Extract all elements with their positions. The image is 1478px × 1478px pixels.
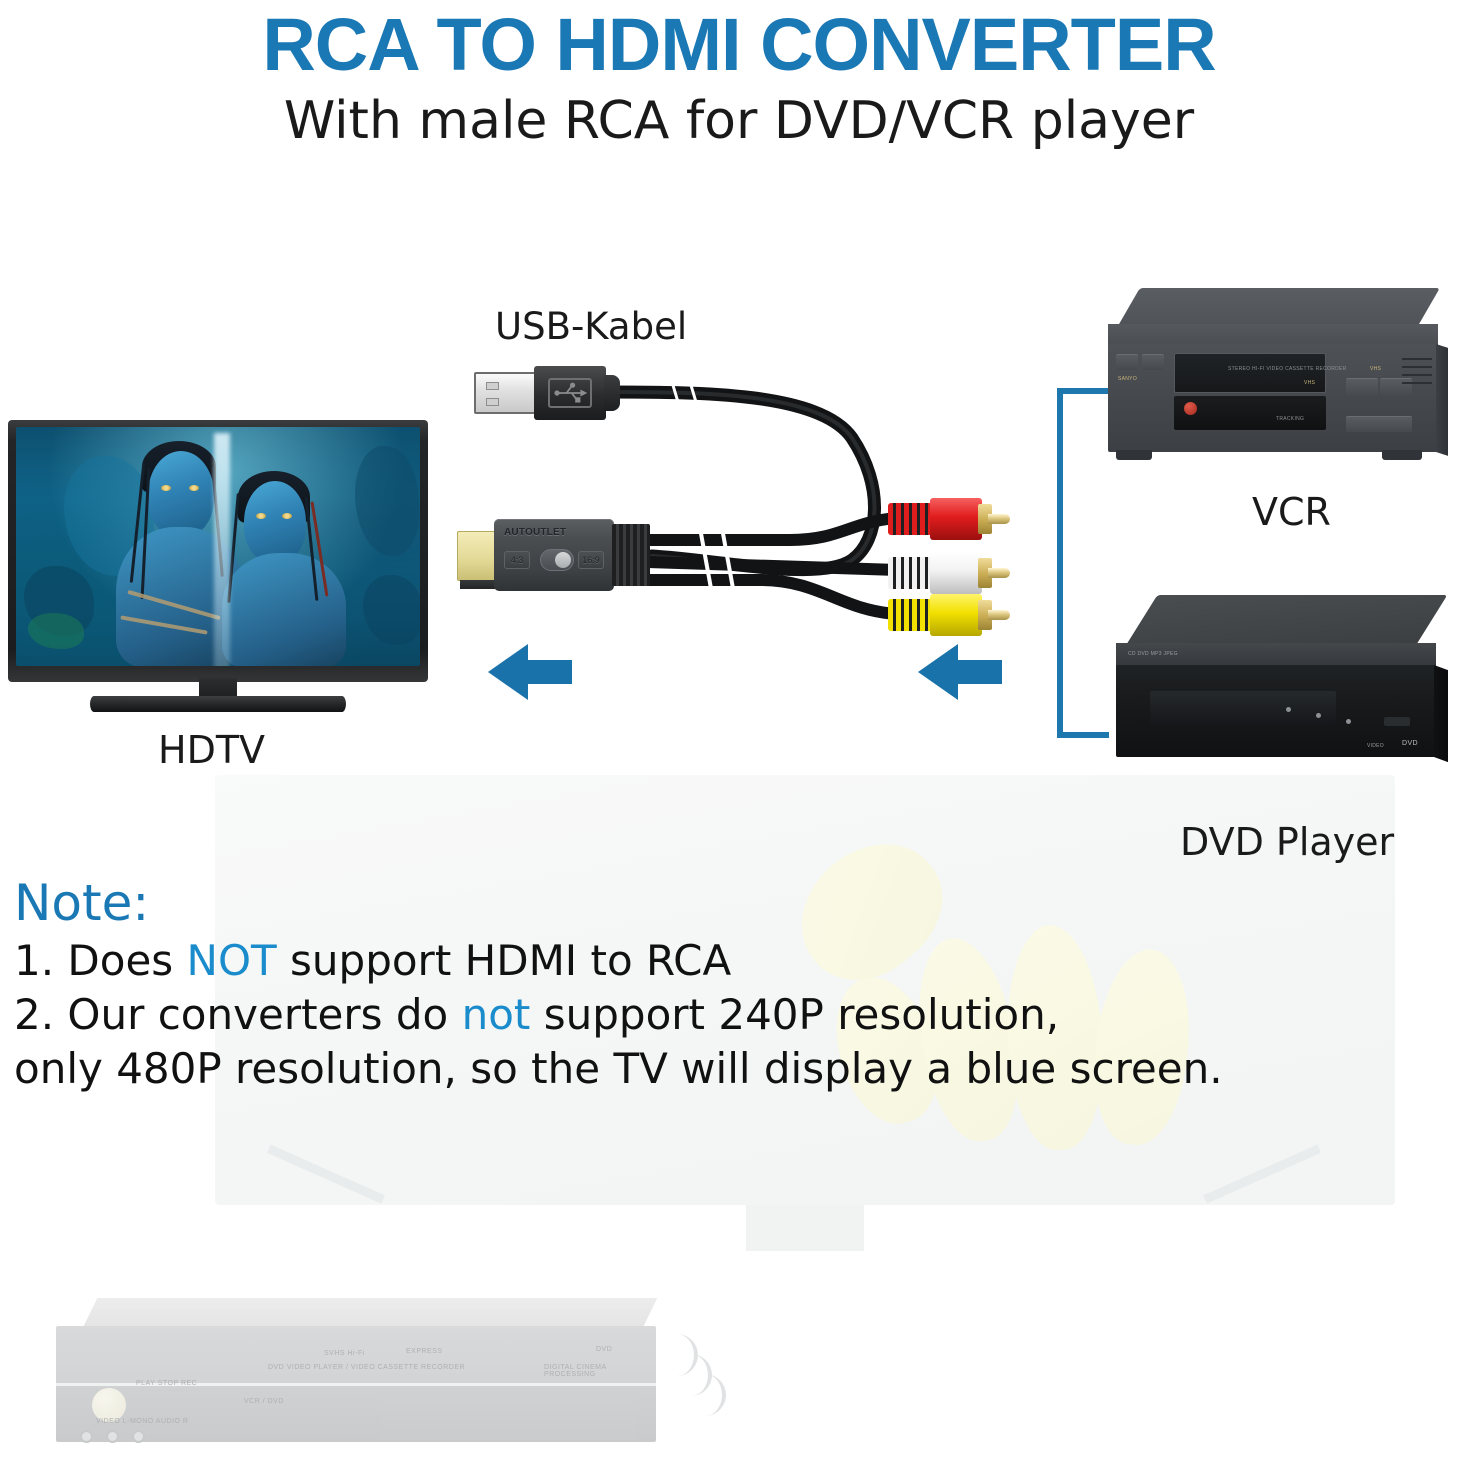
note-item-1-suffix: support HDMI to RCA xyxy=(277,936,732,985)
dvd-player-label: DVD Player xyxy=(1180,820,1394,864)
note-item-1: 1. Does NOT support HDMI to RCA xyxy=(14,934,1334,988)
usb-cable-label: USB-Kabel xyxy=(495,305,687,348)
usb-trident-icon xyxy=(548,378,592,408)
arrow-from-source-icon xyxy=(918,644,1002,700)
note-item-3: only 480P resolution, so the TV will dis… xyxy=(14,1042,1334,1096)
aspect-ratio-4-3-label: 4:3 xyxy=(504,551,530,569)
rca-connector-red xyxy=(888,498,1008,540)
page-subtitle: With male RCA for DVD/VCR player xyxy=(0,94,1478,149)
arrow-to-hdtv-icon xyxy=(488,644,572,700)
header: RCA TO HDMI CONVERTER With male RCA for … xyxy=(0,0,1478,149)
converter-brand-label: AUTOUTLET xyxy=(504,527,566,538)
rca-connector-white xyxy=(888,552,1008,594)
aspect-ratio-16-9-label: 16:9 xyxy=(578,551,604,569)
note-block: Note: 1. Does NOT support HDMI to RCA 2.… xyxy=(14,878,1334,1095)
note-item-2: 2. Our converters do not support 240P re… xyxy=(14,988,1334,1042)
hdtv-device xyxy=(8,420,428,710)
page-title: RCA TO HDMI CONVERTER xyxy=(0,0,1478,82)
usb-a-plug xyxy=(474,372,536,414)
converter-strain-relief xyxy=(612,524,650,586)
hdtv-label: HDTV xyxy=(158,728,265,772)
note-item-2-highlight: not xyxy=(462,990,531,1039)
rca-to-hdmi-converter-body: AUTOUTLET 4:3 16:9 xyxy=(494,519,614,591)
note-item-1-prefix: 1. Does xyxy=(14,936,187,985)
note-item-1-highlight: NOT xyxy=(187,936,277,985)
product-infographic: SVHS Hi-Fi DVD VIDEO PLAYER / VIDEO CASS… xyxy=(0,0,1478,1478)
dvd-player-device: CD DVD MP3 JPEG DVD VIDEO xyxy=(1110,595,1460,795)
note-item-2-suffix: support 240P resolution, xyxy=(530,990,1059,1039)
note-item-2-prefix: 2. Our converters do xyxy=(14,990,462,1039)
hdmi-connector xyxy=(457,531,497,581)
background-vhs-dvd-combo-watermark: SVHS Hi-Fi DVD VIDEO PLAYER / VIDEO CASS… xyxy=(38,1292,698,1472)
rca-connector-yellow xyxy=(888,594,1008,636)
dvd-logo-icon: DVD xyxy=(1402,740,1418,747)
aspect-ratio-switch[interactable] xyxy=(540,549,574,571)
hdtv-screen xyxy=(16,427,420,666)
vcr-label: VCR xyxy=(1252,490,1331,534)
vcr-device: SANYO STEREO HI-FI VIDEO CASSETTE RECORD… xyxy=(1100,288,1450,473)
usb-plug-housing xyxy=(534,366,606,420)
note-heading: Note: xyxy=(14,878,1334,928)
